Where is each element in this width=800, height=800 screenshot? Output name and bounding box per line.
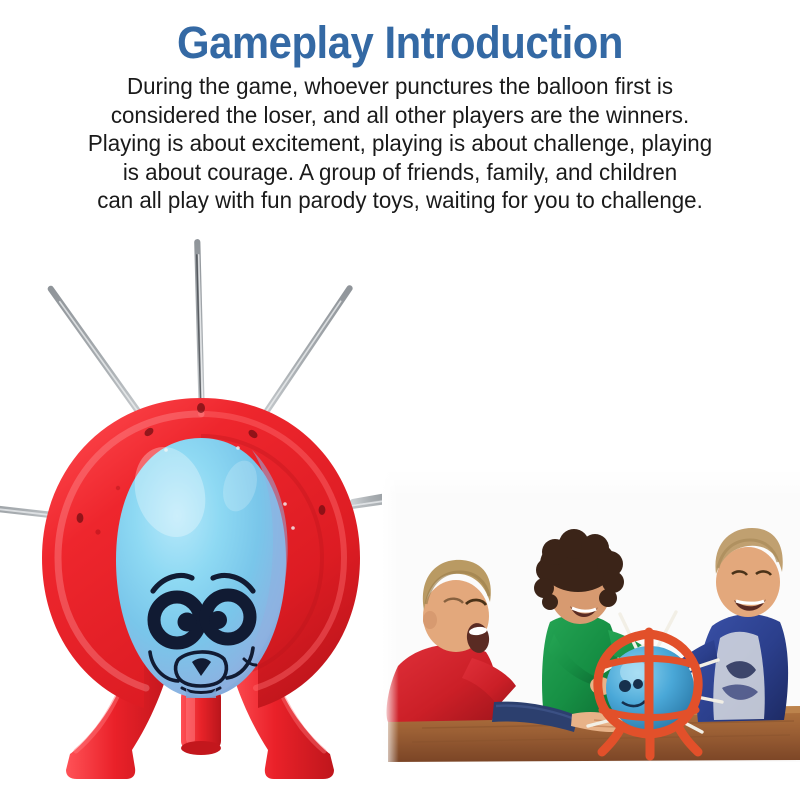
product-illustration bbox=[0, 236, 400, 800]
photo-bottom-mask bbox=[382, 762, 800, 780]
lifestyle-illustration bbox=[382, 470, 800, 780]
product-photo bbox=[0, 236, 400, 800]
pupil-right bbox=[209, 611, 227, 629]
pupil-left bbox=[178, 613, 197, 632]
lifestyle-photo bbox=[382, 470, 800, 780]
intro-line: During the game, whoever punctures the b… bbox=[37, 72, 763, 101]
intro-paragraph: During the game, whoever punctures the b… bbox=[20, 68, 780, 215]
product-marketing-page: Gameplay Introduction During the game, w… bbox=[0, 0, 800, 800]
page-title: Gameplay Introduction bbox=[28, 0, 772, 68]
intro-line: Playing is about excitement, playing is … bbox=[37, 129, 763, 158]
intro-line: considered the loser, and all other play… bbox=[37, 101, 763, 130]
intro-line: can all play with fun parody toys, waiti… bbox=[37, 186, 763, 215]
molding-dot bbox=[95, 529, 100, 534]
molding-dot bbox=[116, 486, 120, 490]
intro-line: is about courage. A group of friends, fa… bbox=[37, 158, 763, 187]
header-text-block: Gameplay Introduction During the game, w… bbox=[0, 0, 800, 215]
balloon-stem bbox=[181, 688, 221, 755]
needle-top bbox=[194, 239, 205, 425]
photo-left-fade bbox=[382, 470, 502, 780]
